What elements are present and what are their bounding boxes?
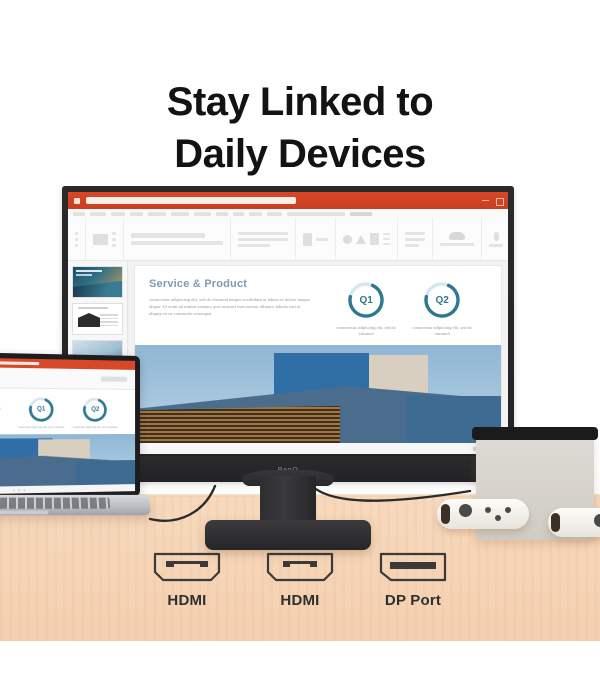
page-title: Stay Linked to Daily Devices bbox=[0, 76, 600, 180]
tab-insert[interactable] bbox=[111, 212, 125, 216]
app-title-field[interactable] bbox=[86, 197, 296, 204]
reset-icon[interactable] bbox=[112, 238, 116, 241]
laptop: e & Product consectetur adipiscing elit,… bbox=[0, 356, 144, 531]
laptop-trackpad bbox=[0, 511, 48, 515]
app-logo-icon bbox=[74, 198, 80, 204]
tab-file[interactable] bbox=[73, 212, 85, 216]
house-illustration bbox=[78, 313, 100, 327]
slide-body-text: consectetur adipiscing elit, sed do eius… bbox=[149, 296, 311, 317]
laptop-lid: e & Product consectetur adipiscing elit,… bbox=[0, 351, 140, 502]
hdmi-port-icon bbox=[153, 552, 221, 582]
tab-format[interactable] bbox=[267, 212, 282, 216]
displayport-port-icon bbox=[379, 552, 447, 582]
shape-outline-icon[interactable] bbox=[383, 238, 390, 240]
numbering-icon[interactable] bbox=[238, 238, 288, 241]
monitor-neck bbox=[260, 476, 316, 526]
tab-design[interactable] bbox=[130, 212, 143, 216]
shape-circle-icon[interactable] bbox=[343, 235, 352, 244]
laptop-donut-q1: Q1 bbox=[27, 396, 54, 423]
monitor-base bbox=[205, 520, 371, 550]
ribbon-group-designer[interactable] bbox=[433, 218, 482, 260]
find-icon[interactable] bbox=[405, 232, 425, 235]
microphone-icon[interactable] bbox=[494, 232, 499, 241]
font-style-row[interactable] bbox=[131, 241, 223, 245]
laptop-kpi-q1-caption: consectetur adipiscing elit, sed do eius… bbox=[18, 426, 65, 430]
port-hdmi-1: HDMI bbox=[147, 552, 227, 609]
shape-effects-icon[interactable] bbox=[383, 243, 390, 245]
port-dp: DP Port bbox=[373, 552, 453, 609]
slide-thumbnail[interactable] bbox=[72, 303, 123, 335]
copy-icon[interactable] bbox=[75, 244, 78, 247]
laptop-kpi-q1-label: Q1 bbox=[27, 396, 54, 423]
replace-icon[interactable] bbox=[405, 238, 425, 241]
port-dp-label: DP Port bbox=[373, 592, 453, 609]
shape-fill-icon[interactable] bbox=[383, 233, 390, 235]
laptop-base bbox=[0, 495, 151, 515]
active-slide: Service & Product consectetur adipiscing… bbox=[135, 266, 501, 443]
app-ribbon[interactable] bbox=[68, 218, 508, 261]
kpi-q1-label: Q1 bbox=[346, 280, 386, 320]
kpi-q2-caption: consectetur adipiscing elit, sed do eius… bbox=[410, 325, 474, 337]
app-status-bar[interactable] bbox=[135, 443, 501, 454]
laptop-keyboard bbox=[0, 498, 110, 509]
kpi-q1: Q1 consectetur adipiscing elit, sed do e… bbox=[334, 280, 398, 337]
kpi-q2: Q2 consectetur adipiscing elit, sed do e… bbox=[410, 280, 474, 337]
app-title-bar bbox=[68, 192, 508, 209]
laptop-app-ribbon[interactable] bbox=[0, 366, 135, 390]
ribbon-group-editing[interactable] bbox=[398, 218, 433, 260]
tab-help[interactable] bbox=[249, 212, 262, 216]
laptop-kpi-q2-label: Q2 bbox=[82, 396, 108, 422]
laptop-kpi-q2-caption: consectetur adipiscing elit, sed do eius… bbox=[73, 426, 118, 430]
bullets-icon[interactable] bbox=[238, 232, 288, 235]
donut-chart-q2: Q2 bbox=[422, 280, 462, 320]
hdmi-port-icon bbox=[266, 552, 334, 582]
tab-share[interactable] bbox=[350, 212, 372, 216]
section-icon[interactable] bbox=[112, 244, 116, 247]
laptop-ribbon-item[interactable] bbox=[101, 376, 127, 381]
tab-slideshow[interactable] bbox=[194, 212, 211, 216]
laptop-kpi-q2: Q2 consectetur adipiscing elit, sed do e… bbox=[73, 396, 118, 429]
laptop-slide-body: consectetur adipiscing elit, sed do eius… bbox=[0, 406, 1, 416]
port-hdmi-2-label: HDMI bbox=[260, 592, 340, 609]
controller-joystick bbox=[459, 504, 472, 517]
slide-thumbnail[interactable] bbox=[72, 266, 123, 298]
ribbon-group-paragraph[interactable] bbox=[231, 218, 296, 260]
dictate-label bbox=[489, 244, 503, 247]
shape-rect-icon[interactable] bbox=[303, 233, 312, 246]
port-hdmi-2: HDMI bbox=[260, 552, 340, 609]
ribbon-group-font[interactable] bbox=[124, 218, 231, 260]
ribbon-group-drawing[interactable] bbox=[296, 218, 336, 260]
tab-transitions[interactable] bbox=[148, 212, 166, 216]
tab-search-field[interactable] bbox=[287, 212, 345, 216]
game-controller-right bbox=[548, 508, 600, 537]
laptop-slide: e & Product consectetur adipiscing elit,… bbox=[0, 387, 135, 496]
port-hdmi-1-label: HDMI bbox=[147, 592, 227, 609]
kpi-q2-label: Q2 bbox=[422, 280, 462, 320]
slide-photo bbox=[135, 345, 501, 443]
ribbon-group-shapes[interactable] bbox=[336, 218, 398, 260]
tab-animations[interactable] bbox=[171, 212, 189, 216]
headline-line-2: Daily Devices bbox=[0, 128, 600, 180]
align-icon[interactable] bbox=[238, 244, 270, 247]
slide-title: Service & Product bbox=[149, 278, 311, 290]
game-console-top bbox=[472, 427, 598, 440]
donut-chart-q1: Q1 bbox=[346, 280, 386, 320]
shape-square-icon[interactable] bbox=[370, 233, 379, 245]
tab-review[interactable] bbox=[216, 212, 228, 216]
new-slide-icon[interactable] bbox=[93, 234, 108, 245]
select-icon[interactable] bbox=[405, 244, 419, 247]
tab-view[interactable] bbox=[233, 212, 244, 216]
layout-icon[interactable] bbox=[112, 232, 116, 235]
designer-label bbox=[440, 243, 474, 246]
paste-icon[interactable] bbox=[75, 232, 78, 235]
slide-canvas[interactable]: Service & Product consectetur adipiscing… bbox=[128, 261, 508, 454]
window-maximize-button[interactable] bbox=[495, 197, 502, 204]
app-tab-bar[interactable] bbox=[68, 209, 508, 218]
game-controller-left bbox=[437, 499, 529, 529]
laptop-screen: e & Product consectetur adipiscing elit,… bbox=[0, 356, 135, 496]
laptop-slide-title: e & Product bbox=[0, 395, 1, 403]
cut-icon[interactable] bbox=[75, 238, 78, 241]
controller-joystick bbox=[594, 514, 600, 527]
port-legend: HDMI HDMI DP Port bbox=[0, 552, 600, 609]
arrange-icon[interactable] bbox=[316, 238, 328, 241]
tab-home[interactable] bbox=[90, 212, 106, 216]
laptop-slide-photo bbox=[0, 434, 135, 489]
headline-line-1: Stay Linked to bbox=[167, 80, 433, 124]
ribbon-group-dictate[interactable] bbox=[482, 218, 508, 260]
shape-triangle-icon[interactable] bbox=[356, 235, 366, 244]
kpi-q1-caption: consectetur adipiscing elit, sed do eius… bbox=[334, 325, 398, 337]
product-feature-banner: Stay Linked to Daily Devices bbox=[0, 0, 600, 691]
laptop-app-title-field[interactable] bbox=[0, 360, 39, 366]
window-minimize-button[interactable] bbox=[482, 197, 489, 204]
designer-cloud-icon[interactable] bbox=[449, 232, 465, 240]
laptop-donut-q2: Q2 bbox=[82, 396, 108, 422]
laptop-kpi-q1: Q1 consectetur adipiscing elit, sed do e… bbox=[18, 396, 65, 430]
ribbon-group-clipboard[interactable] bbox=[68, 218, 86, 260]
font-name-field[interactable] bbox=[131, 233, 205, 238]
ribbon-group-slides[interactable] bbox=[86, 218, 124, 260]
